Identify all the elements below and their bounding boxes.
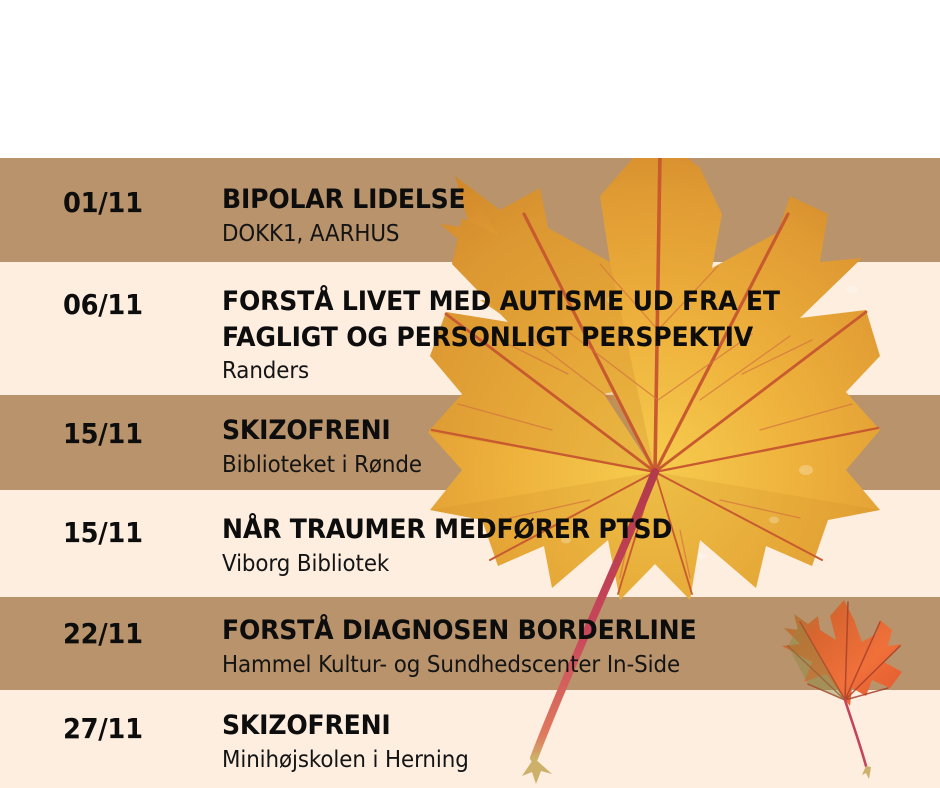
event-date: 15/11 bbox=[63, 516, 143, 549]
list-item[interactable]: 22/11 FORSTÅ DIAGNOSEN BORDERLINE Hammel… bbox=[0, 597, 940, 690]
poster-canvas: Temaaftener i november 01/11 BIPOLAR LID… bbox=[0, 0, 940, 788]
event-body: SKIZOFRENI Biblioteket i Rønde bbox=[222, 413, 940, 481]
list-item[interactable]: 27/11 SKIZOFRENI Minihøjskolen i Herning bbox=[0, 690, 940, 788]
event-date: 22/11 bbox=[63, 617, 143, 650]
event-body: BIPOLAR LIDELSE DOKK1, AARHUS bbox=[222, 182, 940, 250]
event-date: 01/11 bbox=[63, 186, 143, 219]
event-body: NÅR TRAUMER MEDFØRER PTSD Viborg Bibliot… bbox=[222, 512, 940, 580]
event-date: 06/11 bbox=[63, 288, 143, 321]
event-venue: Hammel Kultur- og Sundhedscenter In-Side bbox=[222, 651, 890, 681]
event-venue: Biblioteket i Rønde bbox=[222, 451, 890, 481]
event-body: FORSTÅ LIVET MED AUTISME UD FRA ET FAGLI… bbox=[222, 284, 940, 387]
list-item[interactable]: 15/11 SKIZOFRENI Biblioteket i Rønde bbox=[0, 395, 940, 490]
event-title-line: FORSTÅ LIVET MED AUTISME UD FRA ET bbox=[222, 284, 890, 320]
event-title-line: BIPOLAR LIDELSE bbox=[222, 182, 890, 218]
list-item[interactable]: 06/11 FORSTÅ LIVET MED AUTISME UD FRA ET… bbox=[0, 262, 940, 395]
event-title-line: SKIZOFRENI bbox=[222, 708, 890, 744]
list-item[interactable]: 01/11 BIPOLAR LIDELSE DOKK1, AARHUS bbox=[0, 158, 940, 262]
event-date: 27/11 bbox=[63, 712, 143, 745]
event-venue: Randers bbox=[222, 357, 890, 387]
title-band bbox=[0, 0, 940, 158]
event-date: 15/11 bbox=[63, 417, 143, 450]
event-body: FORSTÅ DIAGNOSEN BORDERLINE Hammel Kultu… bbox=[222, 613, 940, 681]
event-body: SKIZOFRENI Minihøjskolen i Herning bbox=[222, 708, 940, 776]
event-title-line: FORSTÅ DIAGNOSEN BORDERLINE bbox=[222, 613, 890, 649]
event-title-line: SKIZOFRENI bbox=[222, 413, 890, 449]
event-venue: DOKK1, AARHUS bbox=[222, 220, 890, 250]
list-item[interactable]: 15/11 NÅR TRAUMER MEDFØRER PTSD Viborg B… bbox=[0, 490, 940, 597]
event-title-line: NÅR TRAUMER MEDFØRER PTSD bbox=[222, 512, 890, 548]
event-venue: Minihøjskolen i Herning bbox=[222, 746, 890, 776]
event-venue: Viborg Bibliotek bbox=[222, 550, 890, 580]
event-title-line: FAGLIGT OG PERSONLIGT PERSPEKTIV bbox=[222, 320, 890, 356]
